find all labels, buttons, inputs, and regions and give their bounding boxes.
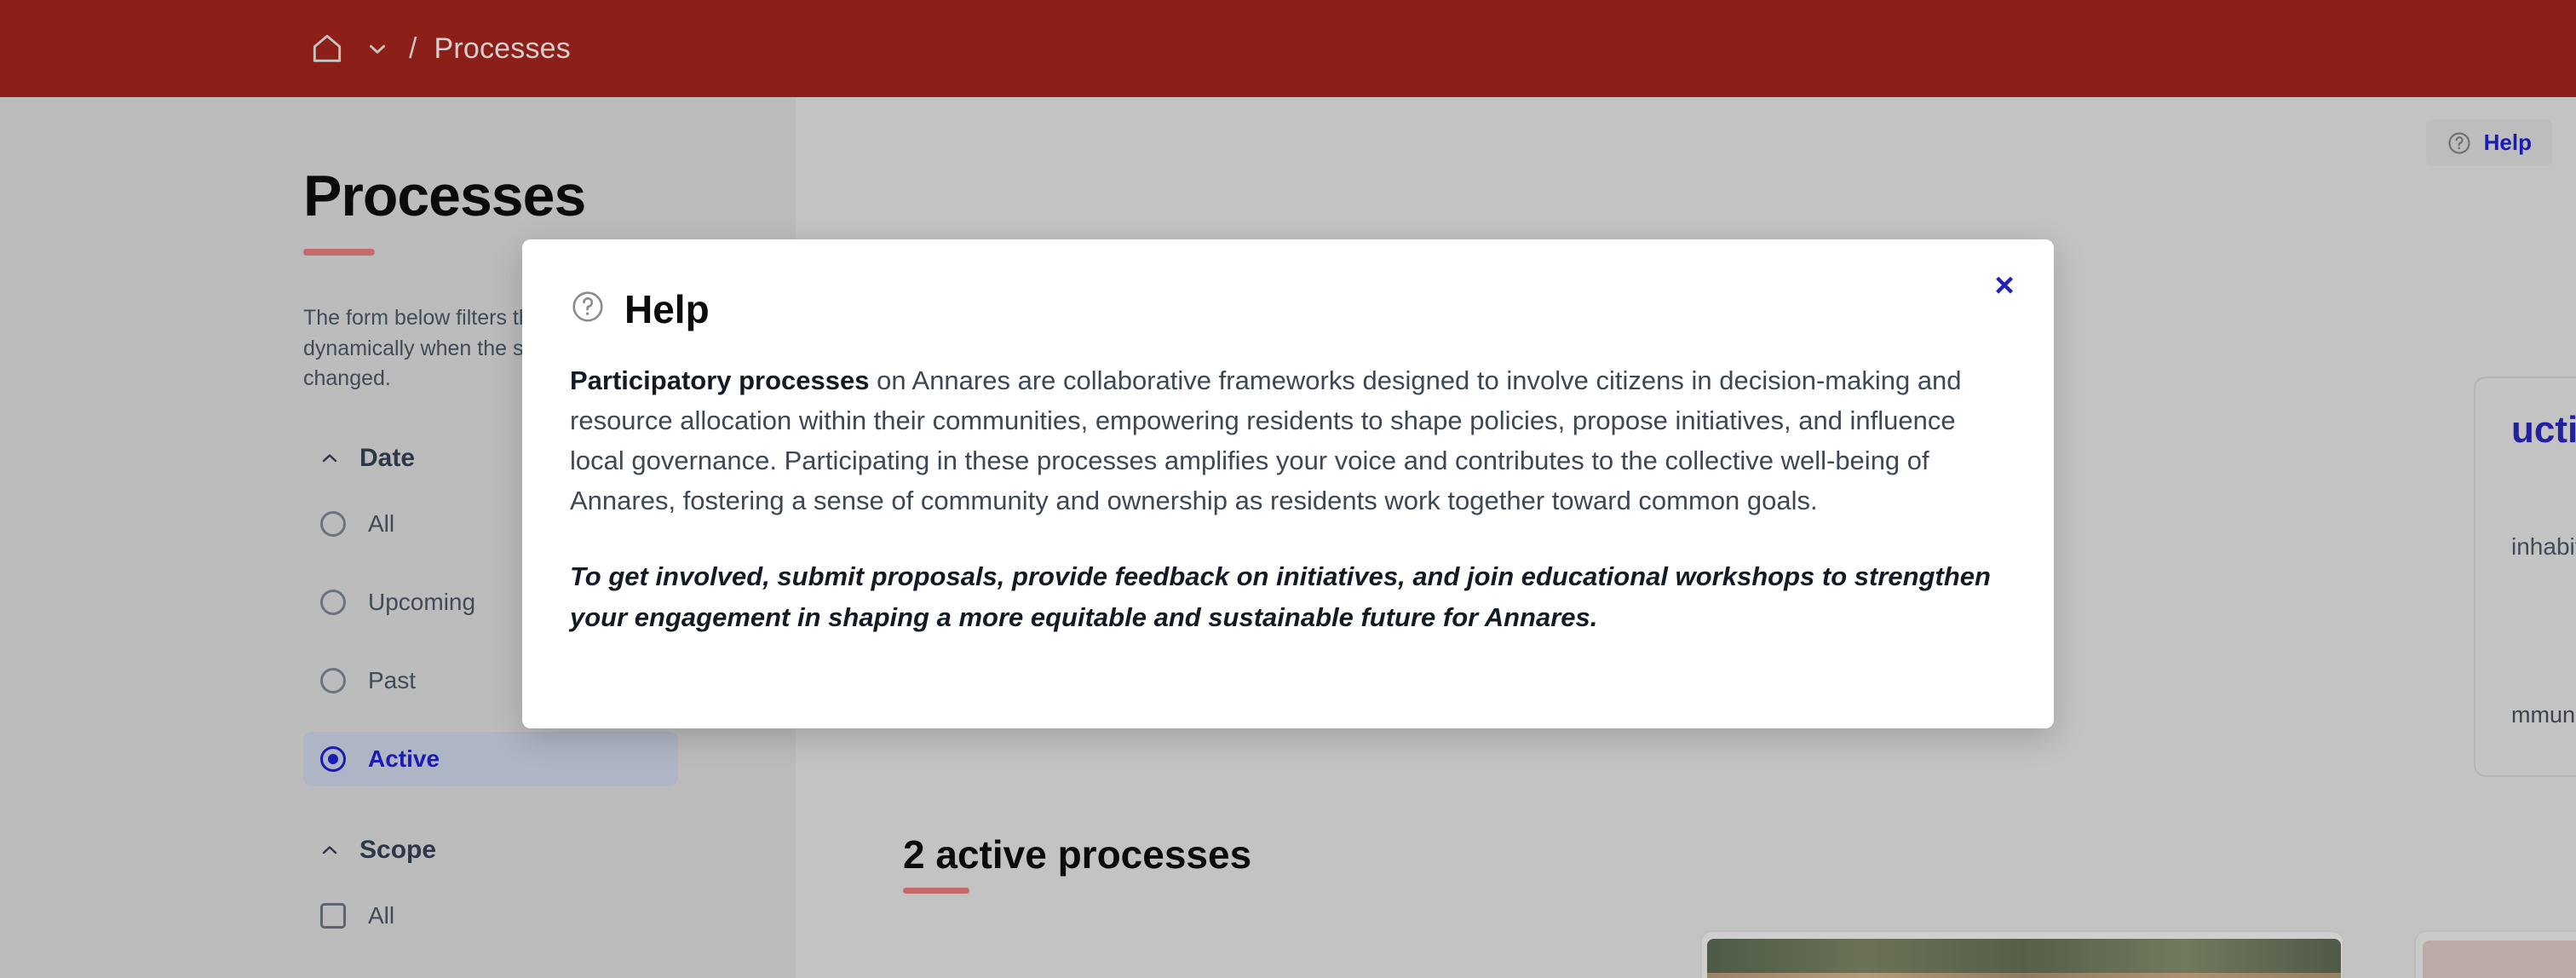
help-modal: × Help Participatory processes on Annare… [522,239,2054,728]
filter-option-label: Past [368,667,416,694]
question-circle-icon [570,289,606,329]
filter-option-label: Active [368,745,440,773]
highlighted-card-body: inhabitant of sources to [2511,530,2576,564]
home-icon[interactable] [303,25,351,72]
breadcrumb: / Processes [303,25,571,72]
filter-group-date-label: Date [359,444,415,473]
modal-paragraph-main: Participatory processes on Annares are c… [570,360,1996,521]
help-button-label: Help [2484,129,2532,156]
process-card-placeholder[interactable] [2414,930,2576,978]
modal-header: Help [570,289,710,329]
process-card-image [2423,941,2576,978]
filter-option-label: All [368,510,394,538]
modal-title: Help [624,290,710,329]
breadcrumb-current-page[interactable]: Processes [434,32,571,66]
top-navigation-bar: / Processes [0,0,2576,97]
page-title: Processes [303,167,763,225]
filter-option-label: All [368,902,394,929]
radio-icon-selected [320,746,346,772]
chevron-down-icon[interactable] [358,29,397,68]
highlighted-card-meta: mmunities [2511,702,2576,728]
active-processes-heading: 2 active processes [903,835,1251,874]
app-root: / Processes Processes The form below fil… [0,0,2576,978]
filter-group-scope-header[interactable]: Scope [303,836,763,865]
filter-option-scope-all[interactable]: All [303,889,763,943]
close-icon[interactable]: × [1979,260,2030,311]
active-heading-underline [903,888,969,894]
modal-paragraph-cta: To get involved, submit proposals, provi… [570,556,1996,636]
radio-icon [320,668,346,693]
question-circle-icon [2447,130,2472,156]
chevron-up-icon [319,839,341,861]
filter-option-date-active[interactable]: Active [303,732,678,786]
radio-icon [320,590,346,615]
breadcrumb-separator: / [409,34,417,63]
chevron-up-icon [319,447,341,469]
highlighted-card-title: uction [2511,409,2576,452]
process-card-image [1707,939,2341,978]
radio-icon [320,511,346,537]
filter-group-scope-label: Scope [359,836,436,865]
highlighted-process-card[interactable]: uction inhabitant of sources to mmunitie… [2474,377,2576,777]
filter-option-label: Upcoming [368,589,475,616]
modal-paragraph-lead: Participatory processes [570,365,870,395]
page-title-underline [303,249,375,256]
help-button[interactable]: Help [2426,119,2552,166]
filter-group-scope: Scope All [303,836,763,943]
process-card-aerial-city[interactable] [1700,930,2344,978]
modal-body: Participatory processes on Annares are c… [570,360,1996,637]
checkbox-icon [320,903,346,929]
